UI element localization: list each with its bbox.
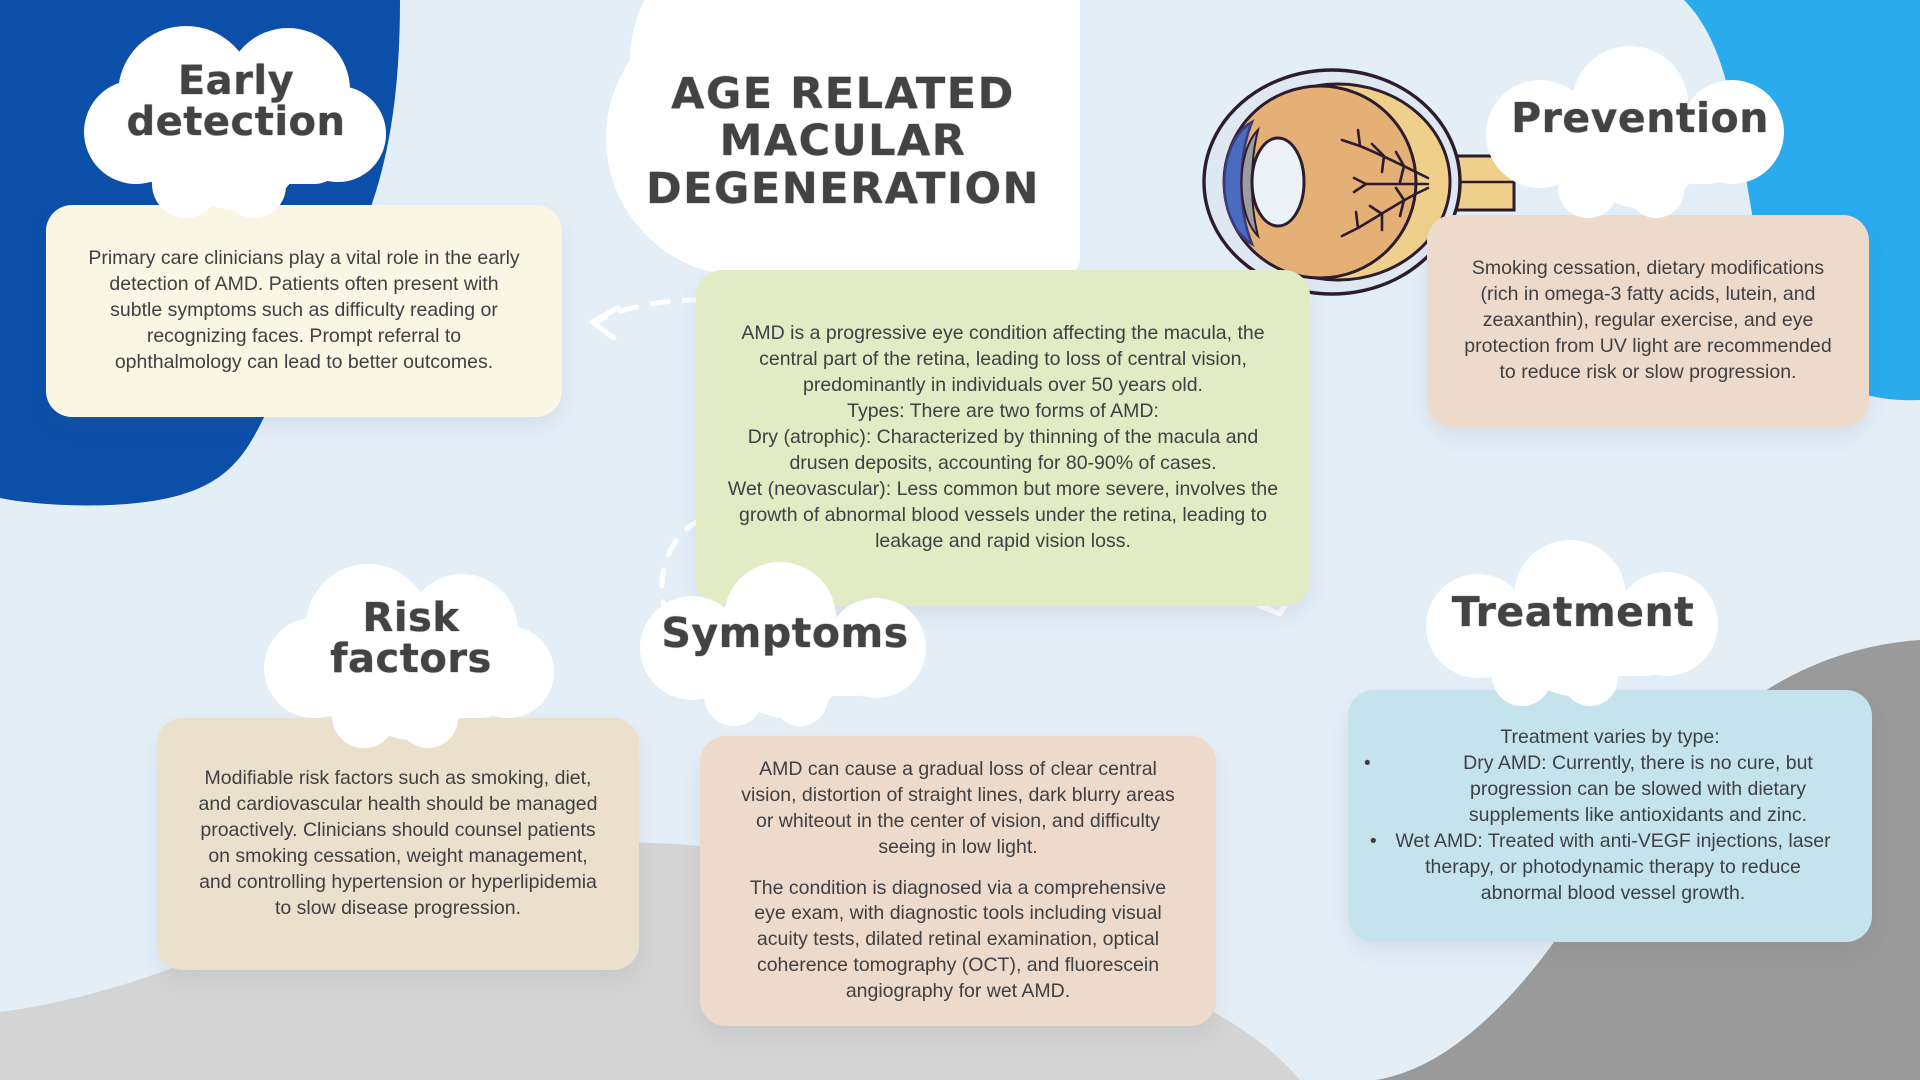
heading-prevention: Prevention — [1480, 42, 1800, 222]
lens — [1252, 138, 1304, 226]
page-title: AGE RELATED MACULAR DEGENERATION — [618, 16, 1068, 256]
risk-factors-body: Modifiable risk factors such as smoking,… — [191, 766, 605, 922]
card-risk-factors: Modifiable risk factors such as smoking,… — [157, 718, 639, 970]
heading-early-detection: Early detection — [76, 24, 396, 214]
cloud-risk-factors: Risk factors — [256, 560, 566, 750]
symptoms-paragraph-2: The condition is diagnosed via a compreh… — [738, 876, 1178, 1006]
heading-symptoms: Symptoms — [630, 560, 940, 730]
treatment-intro: Treatment varies by type: — [1382, 725, 1838, 751]
infographic-canvas: AGE RELATED MACULAR DEGENERATION — [0, 0, 1920, 1080]
title-cloud: AGE RELATED MACULAR DEGENERATION — [618, 16, 1068, 256]
heading-treatment: Treatment — [1408, 538, 1738, 710]
early-detection-body: Primary care clinicians play a vital rol… — [82, 246, 526, 376]
symptoms-paragraph-1: AMD can cause a gradual loss of clear ce… — [738, 757, 1178, 861]
prevention-body: Smoking cessation, dietary modifications… — [1457, 256, 1839, 386]
treatment-bullet-list: Dry AMD: Currently, there is no cure, bu… — [1382, 751, 1838, 907]
card-early-detection: Primary care clinicians play a vital rol… — [46, 205, 562, 417]
card-prevention: Smoking cessation, dietary modifications… — [1427, 215, 1869, 427]
treatment-bullet-wet: Wet AMD: Treated with anti-VEGF injectio… — [1382, 829, 1838, 907]
overview-body: AMD is a progressive eye condition affec… — [726, 321, 1280, 554]
cloud-treatment: Treatment — [1408, 538, 1738, 710]
card-overview: AMD is a progressive eye condition affec… — [696, 270, 1310, 606]
card-symptoms: AMD can cause a gradual loss of clear ce… — [700, 736, 1216, 1026]
card-treatment: Treatment varies by type: Dry AMD: Curre… — [1348, 690, 1872, 942]
heading-risk-factors: Risk factors — [256, 560, 566, 750]
treatment-bullet-dry: Dry AMD: Currently, there is no cure, bu… — [1382, 751, 1838, 829]
cloud-early-detection: Early detection — [76, 24, 396, 214]
cloud-prevention: Prevention — [1480, 42, 1800, 222]
cloud-symptoms: Symptoms — [630, 560, 940, 730]
